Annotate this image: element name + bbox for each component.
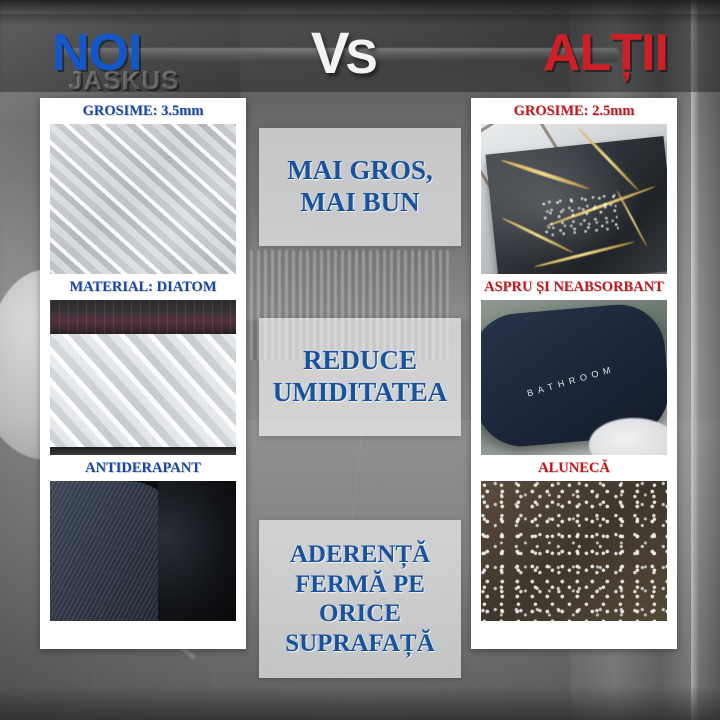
brand-altii: ALȚII xyxy=(543,23,668,83)
left-comparison-column: GROSIME: 3.5mm MATERIAL: DIATOM ANTIDERA… xyxy=(40,98,246,649)
vs-s-letter: S xyxy=(346,31,374,84)
message-line: FERMĂ PE xyxy=(259,570,461,600)
left-caption-material: MATERIAL: DIATOM xyxy=(40,274,246,300)
left-column-footer-space xyxy=(40,621,246,649)
navy-mat-scene: BATHROOM xyxy=(481,300,667,455)
right-caption-thickness: GROSIME: 2.5mm xyxy=(471,98,677,124)
message-line: MAI GROS, xyxy=(259,155,461,187)
header-band: NOI JASKUS VS ALȚII xyxy=(0,14,720,92)
gold-vein-mat xyxy=(486,136,667,274)
left-caption-antislip: ANTIDERAPANT xyxy=(40,455,246,481)
left-caption-thickness: GROSIME: 3.5mm xyxy=(40,98,246,124)
right-comparison-column: GROSIME: 2.5mm ASPRU ȘI NEABSORBANT xyxy=(471,98,677,649)
slab-foot-shadow xyxy=(50,447,236,455)
message-line: ADERENȚĂ xyxy=(259,540,461,570)
right-column-footer-space xyxy=(471,621,677,649)
brown-speckled-carpet xyxy=(481,481,667,621)
message-line: MAI BUN xyxy=(259,187,461,219)
left-photo-marble-thickness xyxy=(50,124,236,274)
gold-mat-scene xyxy=(481,124,667,274)
rubber-backing xyxy=(50,481,236,621)
gold-vein xyxy=(616,190,648,248)
watermark-jaskus: JASKUS xyxy=(68,65,179,96)
slab-dark-band xyxy=(50,300,236,334)
right-caption-slips: ALUNECĂ xyxy=(471,455,677,481)
gold-vein xyxy=(577,128,639,192)
mat-bathroom-text: BATHROOM xyxy=(481,349,665,412)
message-line: SUPRAFAȚĂ xyxy=(259,629,461,659)
vs-v-letter: V xyxy=(311,21,346,86)
message-line: ORICE xyxy=(259,599,461,629)
background-bottom-shade xyxy=(0,686,720,720)
gold-vein xyxy=(533,240,634,268)
right-caption-rough: ASPRU ȘI NEABSORBANT xyxy=(471,274,677,300)
left-photo-rubber-backing xyxy=(50,481,236,621)
right-photo-navy-mat: BATHROOM xyxy=(481,300,667,455)
message-line: UMIDITATEA xyxy=(259,377,461,409)
right-photo-brown-carpet xyxy=(481,481,667,621)
vs-badge: VS xyxy=(311,20,374,87)
brand-noi: NOI JASKUS xyxy=(52,23,141,83)
message-line: REDUCE xyxy=(259,345,461,377)
light-marble-texture xyxy=(50,124,236,274)
right-photo-gold-vein-mat xyxy=(481,124,667,274)
left-photo-marble-slab xyxy=(50,300,236,455)
gold-vein xyxy=(500,159,590,191)
mat-speckles xyxy=(541,193,620,241)
rubber-curled-edge xyxy=(158,481,236,621)
center-message-grip: ADERENȚĂ FERMĂ PE ORICE SUPRAFAȚĂ xyxy=(259,520,461,678)
center-message-humidity: REDUCE UMIDITATEA xyxy=(259,318,461,436)
center-message-thicker: MAI GROS, MAI BUN xyxy=(259,128,461,246)
comparison-infographic: NOI JASKUS VS ALȚII GROSIME: 3.5mm MATER… xyxy=(0,0,720,720)
slab-light-surface xyxy=(50,334,236,447)
marble-slab xyxy=(50,300,236,455)
